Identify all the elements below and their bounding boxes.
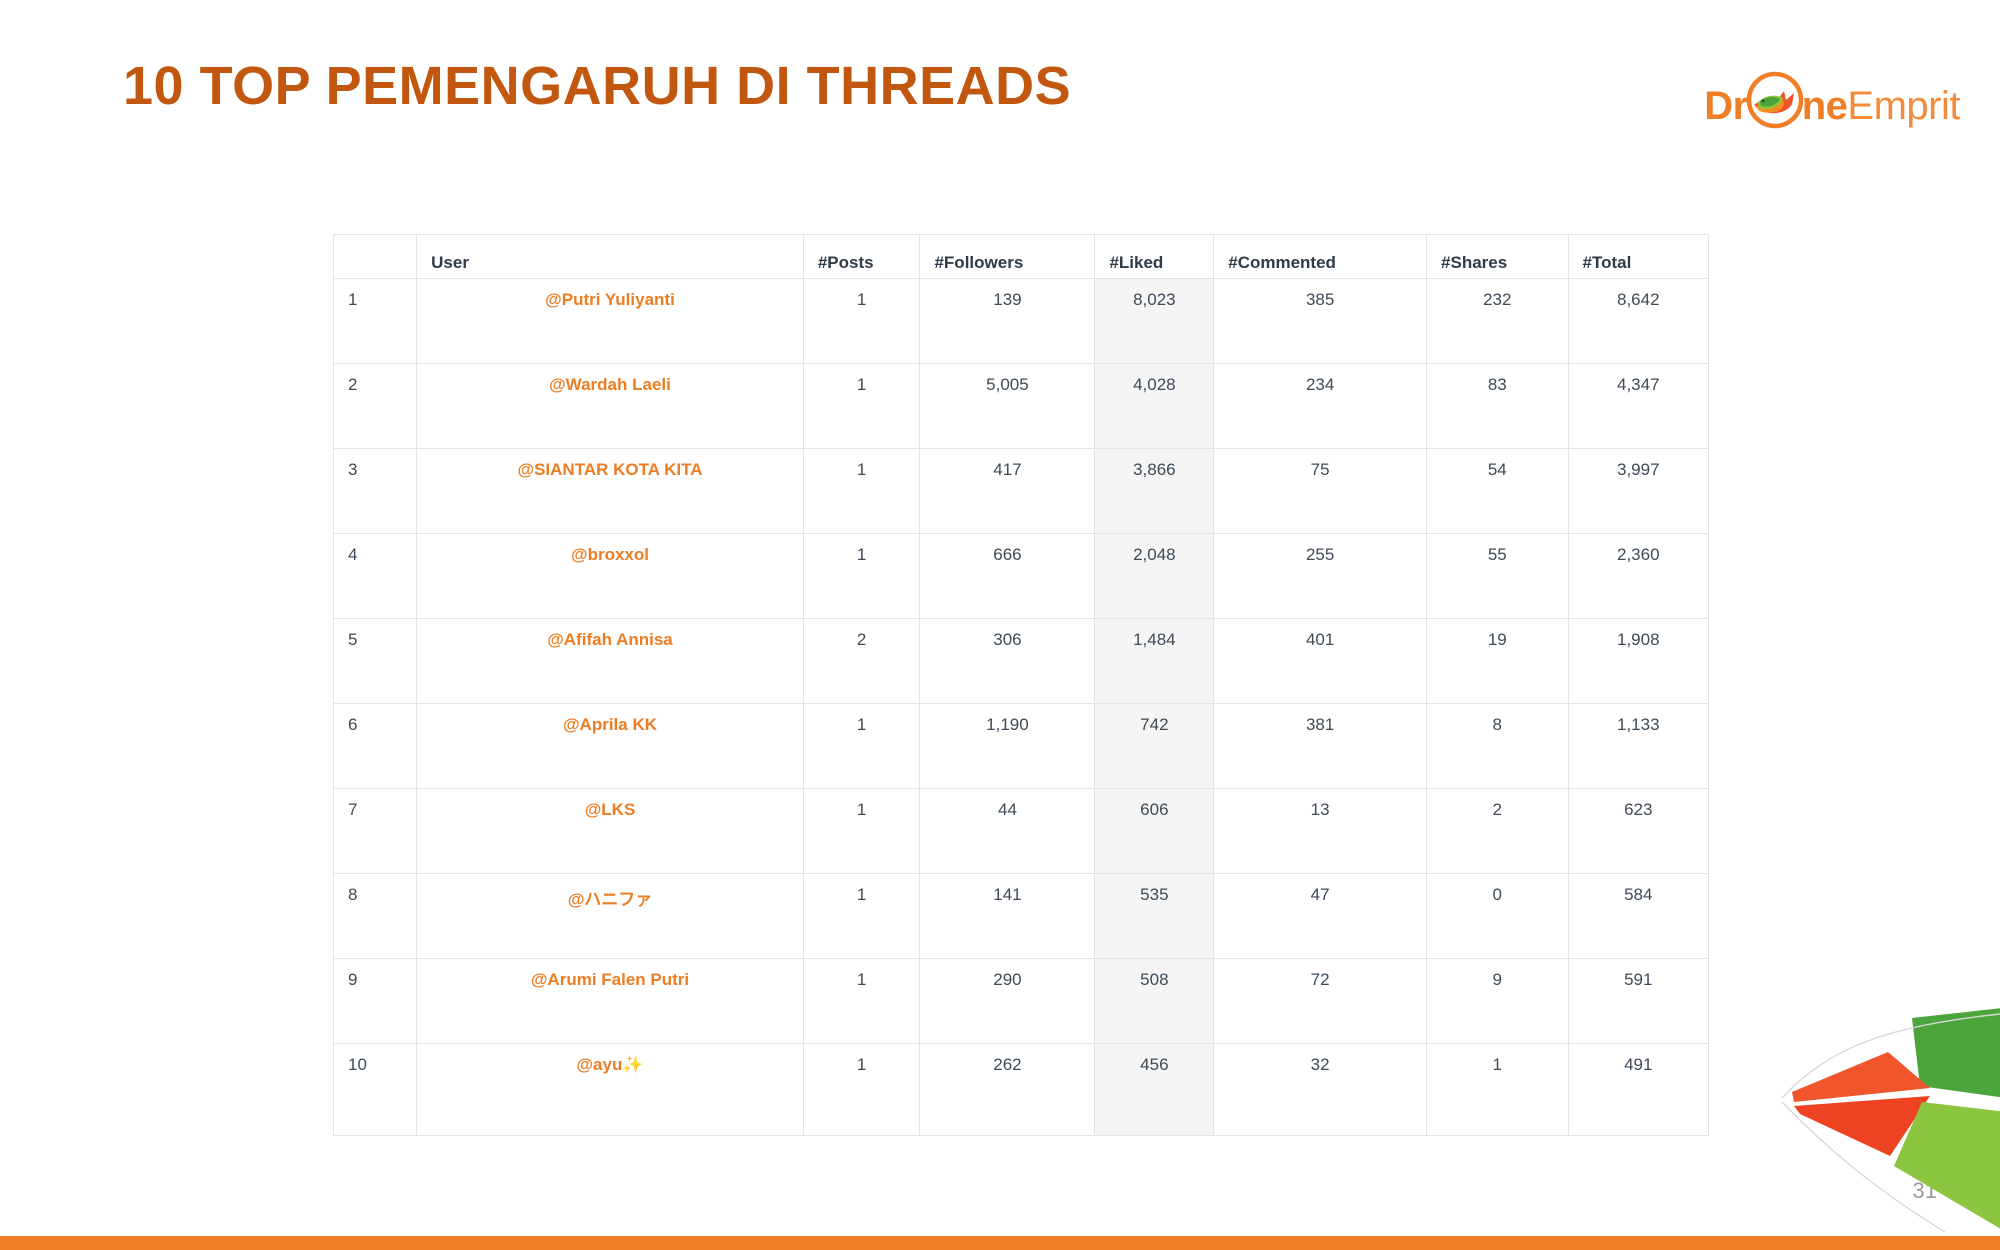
cell-liked: 456	[1095, 1044, 1214, 1136]
cell-posts: 1	[803, 279, 920, 364]
cell-shares: 54	[1427, 449, 1568, 534]
table-row: 6@Aprila KK11,19074238181,133	[334, 704, 1709, 789]
cell-posts: 1	[803, 1044, 920, 1136]
cell-shares: 1	[1427, 1044, 1568, 1136]
cell-liked: 3,866	[1095, 449, 1214, 534]
cell-shares: 55	[1427, 534, 1568, 619]
cell-posts: 2	[803, 619, 920, 704]
logo-text-dr: Dr	[1704, 86, 1747, 126]
deco-shape-green-light	[1894, 1102, 2000, 1232]
cell-index: 10	[334, 1044, 417, 1136]
cell-posts: 1	[803, 449, 920, 534]
column-header-user: User	[417, 235, 804, 279]
cell-commented: 255	[1214, 534, 1427, 619]
username-link[interactable]: @Wardah Laeli	[549, 375, 671, 394]
cell-liked: 535	[1095, 874, 1214, 959]
cell-liked: 742	[1095, 704, 1214, 789]
page-title: 10 TOP PEMENGARUH DI THREADS	[123, 55, 1071, 117]
cell-user: @broxxol	[417, 534, 804, 619]
cell-liked: 4,028	[1095, 364, 1214, 449]
cell-user: @Putri Yuliyanti	[417, 279, 804, 364]
cell-total: 1,133	[1568, 704, 1708, 789]
cell-liked: 1,484	[1095, 619, 1214, 704]
cell-followers: 1,190	[920, 704, 1095, 789]
slide-canvas: 10 TOP PEMENGARUH DI THREADS Dr ne Empri…	[0, 0, 2000, 1250]
cell-index: 9	[334, 959, 417, 1044]
cell-followers: 417	[920, 449, 1095, 534]
table-row: 7@LKS144606132623	[334, 789, 1709, 874]
table-header: User #Posts #Followers #Liked #Commented…	[334, 235, 1709, 279]
cell-followers: 5,005	[920, 364, 1095, 449]
cell-index: 3	[334, 449, 417, 534]
cell-posts: 1	[803, 874, 920, 959]
cell-total: 491	[1568, 1044, 1708, 1136]
deco-shape-orange-dark	[1794, 1096, 1930, 1156]
cell-commented: 401	[1214, 619, 1427, 704]
cell-total: 8,642	[1568, 279, 1708, 364]
cell-shares: 83	[1427, 364, 1568, 449]
cell-liked: 606	[1095, 789, 1214, 874]
cell-commented: 47	[1214, 874, 1427, 959]
cell-index: 4	[334, 534, 417, 619]
cell-index: 5	[334, 619, 417, 704]
page-number: 31	[1913, 1178, 1937, 1204]
cell-user: @ayu✨	[417, 1044, 804, 1136]
username-link[interactable]: @LKS	[585, 800, 636, 819]
cell-commented: 381	[1214, 704, 1427, 789]
cell-index: 2	[334, 364, 417, 449]
username-link[interactable]: @ハニファ	[568, 890, 653, 909]
cell-commented: 75	[1214, 449, 1427, 534]
logo-text-emprit: Emprit	[1847, 86, 1960, 126]
table-row: 9@Arumi Falen Putri1290508729591	[334, 959, 1709, 1044]
column-header-commented: #Commented	[1214, 235, 1427, 279]
username-link[interactable]: @Aprila KK	[563, 715, 657, 734]
cell-shares: 9	[1427, 959, 1568, 1044]
cell-liked: 8,023	[1095, 279, 1214, 364]
table-row: 2@Wardah Laeli15,0054,028234834,347	[334, 364, 1709, 449]
deco-shape-green-dark	[1912, 1008, 2000, 1098]
table-row: 1@Putri Yuliyanti11398,0233852328,642	[334, 279, 1709, 364]
cell-total: 591	[1568, 959, 1708, 1044]
cell-followers: 262	[920, 1044, 1095, 1136]
table-row: 8@ハニファ1141535470584	[334, 874, 1709, 959]
column-header-followers: #Followers	[920, 235, 1095, 279]
cell-shares: 2	[1427, 789, 1568, 874]
username-link[interactable]: @SIANTAR KOTA KITA	[518, 460, 703, 479]
cell-followers: 141	[920, 874, 1095, 959]
cell-user: @Aprila KK	[417, 704, 804, 789]
cell-total: 3,997	[1568, 449, 1708, 534]
column-header-shares: #Shares	[1427, 235, 1568, 279]
cell-user: @Wardah Laeli	[417, 364, 804, 449]
cell-followers: 290	[920, 959, 1095, 1044]
cell-followers: 306	[920, 619, 1095, 704]
bird-in-circle-icon	[1744, 69, 1806, 131]
table-row: 5@Afifah Annisa23061,484401191,908	[334, 619, 1709, 704]
drone-emprit-logo: Dr ne Emprit	[1704, 58, 1960, 124]
cell-index: 8	[334, 874, 417, 959]
table-row: 4@broxxol16662,048255552,360	[334, 534, 1709, 619]
cell-posts: 1	[803, 364, 920, 449]
column-header-total: #Total	[1568, 235, 1708, 279]
cell-posts: 1	[803, 789, 920, 874]
deco-outline-2	[1782, 1102, 1945, 1232]
cell-commented: 72	[1214, 959, 1427, 1044]
influencers-table: User #Posts #Followers #Liked #Commented…	[333, 234, 1709, 1136]
cell-shares: 19	[1427, 619, 1568, 704]
cell-user: @SIANTAR KOTA KITA	[417, 449, 804, 534]
cell-liked: 508	[1095, 959, 1214, 1044]
cell-index: 6	[334, 704, 417, 789]
cell-shares: 8	[1427, 704, 1568, 789]
deco-outline	[1782, 1014, 2000, 1098]
deco-shape-orange-light	[1792, 1052, 1930, 1102]
cell-total: 2,360	[1568, 534, 1708, 619]
pinwheel-decoration	[1770, 1006, 2000, 1236]
cell-index: 1	[334, 279, 417, 364]
cell-posts: 1	[803, 534, 920, 619]
cell-total: 4,347	[1568, 364, 1708, 449]
table-body: 1@Putri Yuliyanti11398,0233852328,6422@W…	[334, 279, 1709, 1136]
username-link[interactable]: @Arumi Falen Putri	[531, 970, 689, 989]
cell-commented: 385	[1214, 279, 1427, 364]
table-row: 3@SIANTAR KOTA KITA14173,86675543,997	[334, 449, 1709, 534]
cell-index: 7	[334, 789, 417, 874]
column-header-posts: #Posts	[803, 235, 920, 279]
logo-wordmark: Dr ne Emprit	[1704, 57, 1960, 126]
cell-followers: 139	[920, 279, 1095, 364]
column-header-index	[334, 235, 417, 279]
cell-commented: 32	[1214, 1044, 1427, 1136]
username-link[interactable]: @broxxol	[571, 545, 649, 564]
table-header-row: User #Posts #Followers #Liked #Commented…	[334, 235, 1709, 279]
cell-liked: 2,048	[1095, 534, 1214, 619]
cell-user: @Afifah Annisa	[417, 619, 804, 704]
username-link[interactable]: @Putri Yuliyanti	[545, 290, 675, 309]
cell-followers: 44	[920, 789, 1095, 874]
cell-total: 623	[1568, 789, 1708, 874]
cell-total: 1,908	[1568, 619, 1708, 704]
cell-followers: 666	[920, 534, 1095, 619]
cell-posts: 1	[803, 959, 920, 1044]
cell-commented: 234	[1214, 364, 1427, 449]
logo-text-ne: ne	[1802, 86, 1848, 126]
cell-shares: 232	[1427, 279, 1568, 364]
username-link[interactable]: @Afifah Annisa	[547, 630, 673, 649]
cell-posts: 1	[803, 704, 920, 789]
cell-total: 584	[1568, 874, 1708, 959]
cell-commented: 13	[1214, 789, 1427, 874]
cell-user: @Arumi Falen Putri	[417, 959, 804, 1044]
bottom-accent-bar	[0, 1236, 2000, 1250]
username-link[interactable]: @ayu✨	[576, 1055, 643, 1074]
cell-user: @LKS	[417, 789, 804, 874]
column-header-liked: #Liked	[1095, 235, 1214, 279]
cell-user: @ハニファ	[417, 874, 804, 959]
influencers-table-container: User #Posts #Followers #Liked #Commented…	[333, 234, 1709, 1140]
table-row: 10@ayu✨1262456321491	[334, 1044, 1709, 1136]
cell-shares: 0	[1427, 874, 1568, 959]
